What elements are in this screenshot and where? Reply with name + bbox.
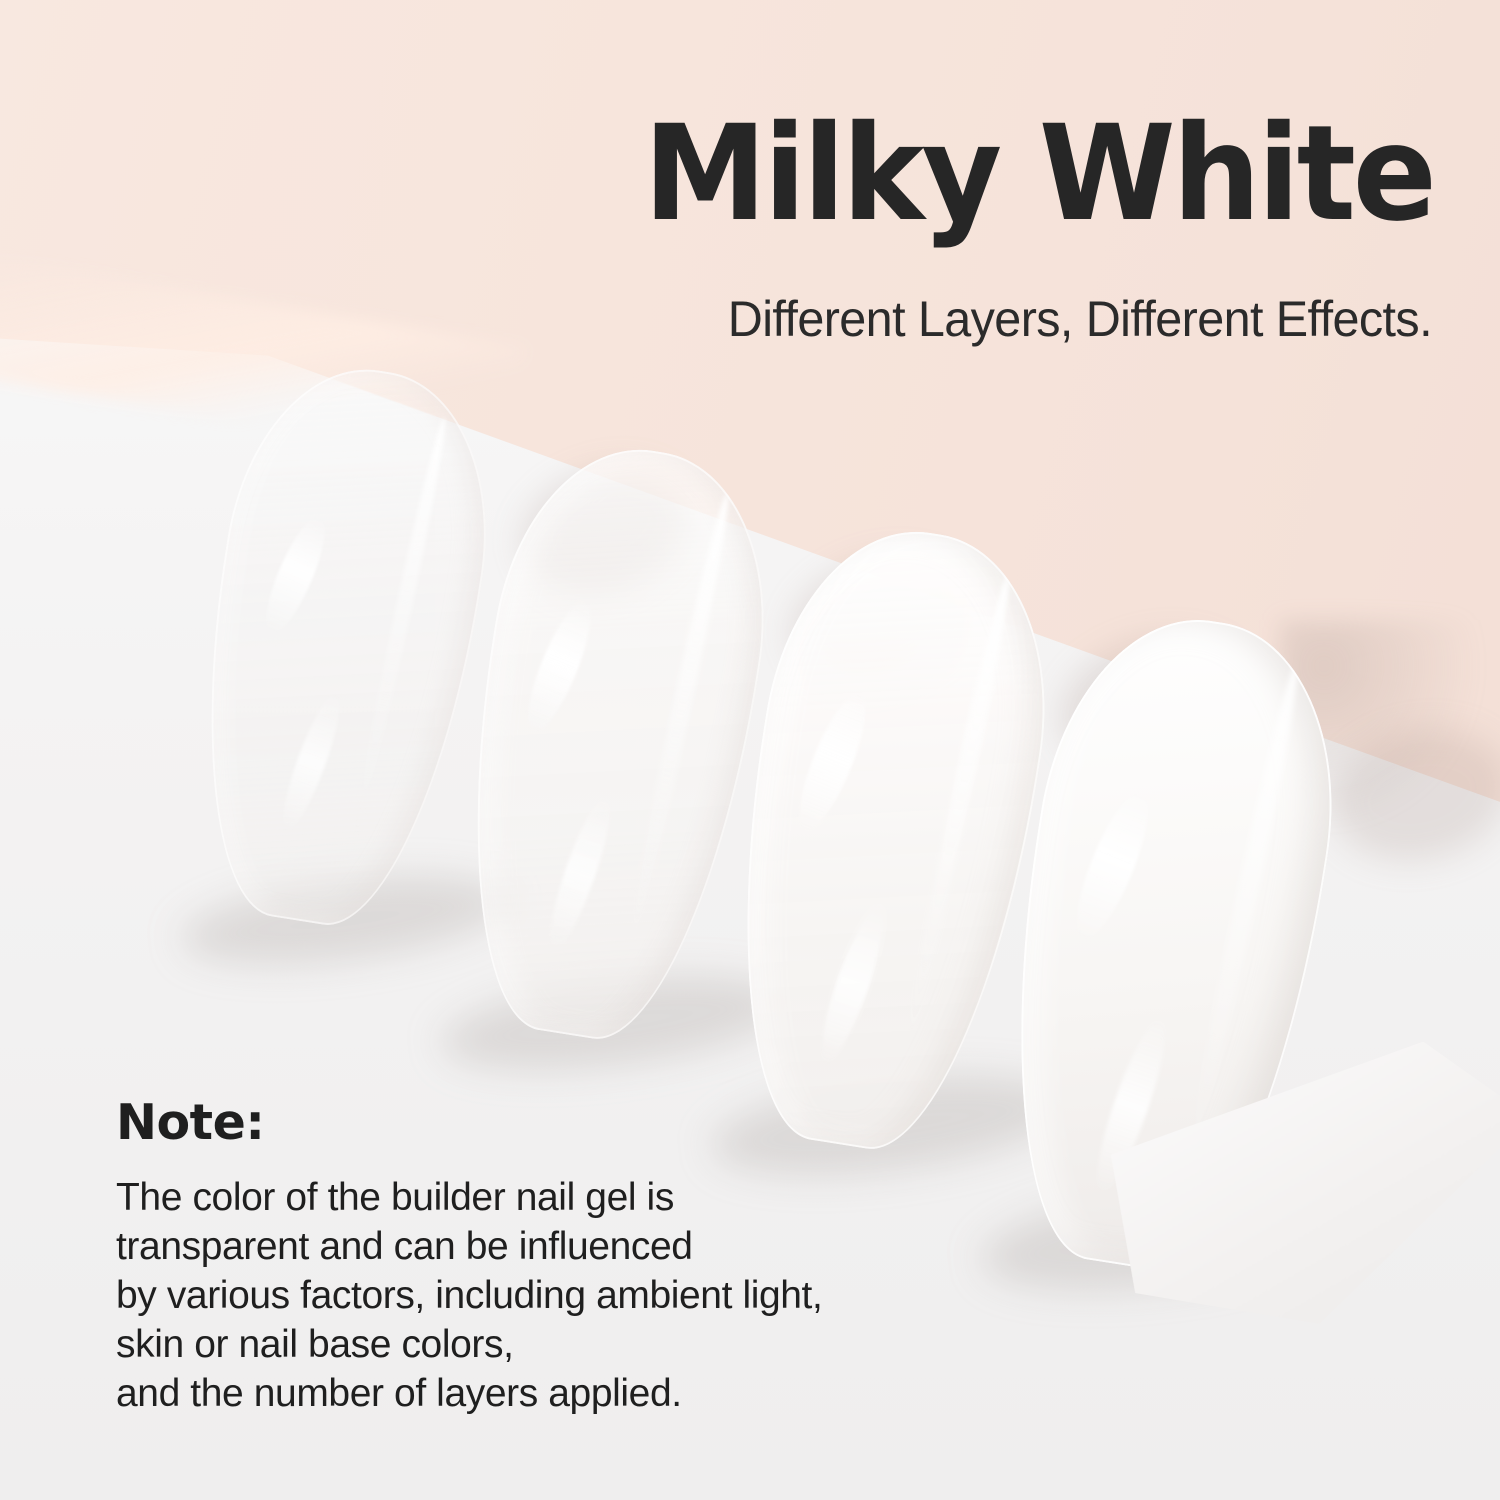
product-banner: Milky White Different Layers, Different … [0,0,1500,1500]
page-title: Milky White [644,108,1434,240]
note-line: The color of the builder nail gel is [116,1173,822,1222]
note-line: and the number of layers applied. [116,1369,822,1418]
note-line: skin or nail base colors, [116,1320,822,1369]
nail-body-1 [170,351,512,941]
nail-swatch-layer-2[interactable] [434,431,791,1056]
note-block: Note: The color of the builder nail gel … [116,1098,822,1418]
nail-body-2 [434,431,791,1056]
note-body: The color of the builder nail gel is tra… [116,1173,822,1418]
note-heading: Note: [116,1098,822,1147]
note-line: transparent and can be influenced [116,1222,822,1271]
nail-swatch-layer-1[interactable] [170,351,512,941]
page-subtitle: Different Layers, Different Effects. [728,290,1432,348]
note-line: by various factors, including ambient li… [116,1271,822,1320]
nail-cast-shadow-4 [1318,713,1500,878]
